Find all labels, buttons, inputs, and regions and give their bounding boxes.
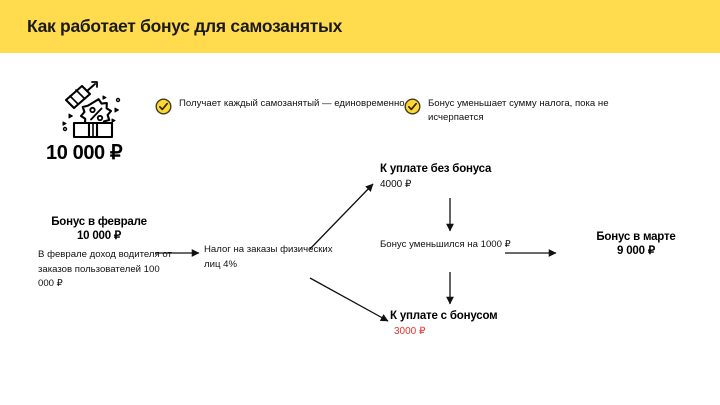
node-value: 4000 ₽ (380, 179, 560, 190)
node-value: 9 000 ₽ (566, 243, 706, 257)
benefit-text: Получает каждый самозанятый — единовреме… (179, 97, 405, 111)
benefit-item-0: Получает каждый самозанятый — единовреме… (155, 97, 405, 115)
node-text: Налог на заказы физических лиц 4% (204, 243, 334, 272)
benefit-text: Бонус уменьшает сумму налога, пока не ис… (428, 97, 654, 125)
node-payable-with-bonus: К уплате с бонусом 3000 ₽ (390, 310, 570, 337)
node-note: В феврале доход водителя от заказов поль… (26, 248, 172, 292)
node-value: 3000 ₽ (390, 326, 570, 337)
node-text: Бонус уменьшился на 1000 ₽ (380, 238, 550, 253)
arrow-tax-to-payable-with-bonus (310, 278, 388, 321)
node-title: К уплате с бонусом (390, 310, 570, 322)
node-payable-without-bonus: К уплате без бонуса 4000 ₽ (380, 163, 560, 190)
gift-box-percent-icon (56, 78, 130, 140)
check-circle-icon (155, 98, 172, 115)
arrow-tax-to-payable-without-bonus (310, 184, 373, 249)
node-title: Бонус в феврале (26, 216, 172, 228)
node-march-bonus: Бонус в марте 9 000 ₽ (566, 231, 706, 257)
node-bonus-reduced: Бонус уменьшился на 1000 ₽ (380, 238, 550, 253)
check-circle-icon (404, 98, 421, 115)
node-tax: Налог на заказы физических лиц 4% (204, 243, 334, 272)
node-title: Бонус в марте (566, 231, 706, 243)
node-february-bonus: Бонус в феврале 10 000 ₽ В феврале доход… (26, 216, 172, 292)
page-title: Как работает бонус для самозанятых (27, 16, 342, 37)
node-title: К уплате без бонуса (380, 163, 560, 175)
node-value: 10 000 ₽ (26, 228, 172, 242)
benefit-item-1: Бонус уменьшает сумму налога, пока не ис… (404, 97, 654, 125)
flow-arrows (0, 0, 720, 405)
hero-amount: 10 000 ₽ (46, 140, 122, 165)
